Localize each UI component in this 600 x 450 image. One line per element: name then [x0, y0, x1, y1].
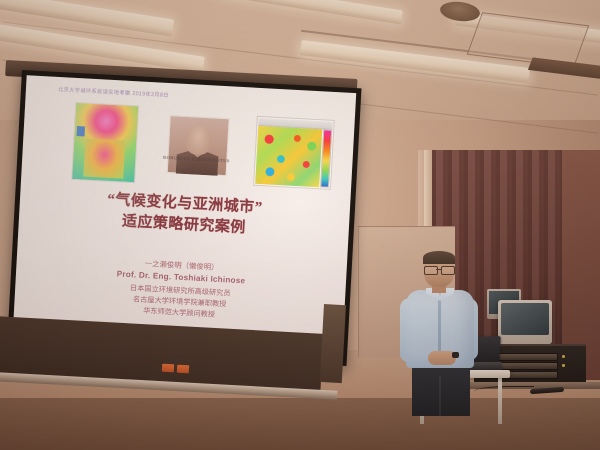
crt-monitor	[498, 300, 552, 344]
slide-author-block: 一之濑俊明（懒俊明） Prof. Dr. Eng. Toshiaki Ichin…	[14, 251, 347, 327]
presenter	[398, 252, 490, 412]
map-canvas	[255, 126, 322, 187]
floor	[0, 398, 600, 450]
ceiling-vent	[467, 12, 590, 68]
slide-surface: 北京大学城环系就读实地考察 2019年2月8日 ROBURTUS ICHINOC…	[12, 75, 356, 360]
presenter-hair	[423, 251, 455, 264]
lecture-room-photo: 北京大学城环系就读实地考察 2019年2月8日 ROBURTUS ICHINOC…	[0, 0, 600, 450]
slide-image-row	[21, 95, 355, 203]
table-leg	[498, 378, 502, 424]
presenter-portrait-image	[167, 115, 230, 176]
ceiling-light	[218, 0, 403, 24]
presenter-trousers	[412, 364, 470, 416]
wristwatch-icon	[452, 352, 459, 358]
thermal-portrait-image	[71, 102, 139, 183]
map-color-scale	[320, 129, 332, 187]
board-eraser	[162, 364, 174, 373]
thermal-map-image	[253, 116, 335, 190]
blackboard-edge	[320, 304, 346, 383]
glasses-icon	[423, 266, 455, 273]
map-body	[255, 126, 332, 188]
board-eraser	[177, 365, 189, 374]
ceiling-vent	[528, 57, 600, 79]
